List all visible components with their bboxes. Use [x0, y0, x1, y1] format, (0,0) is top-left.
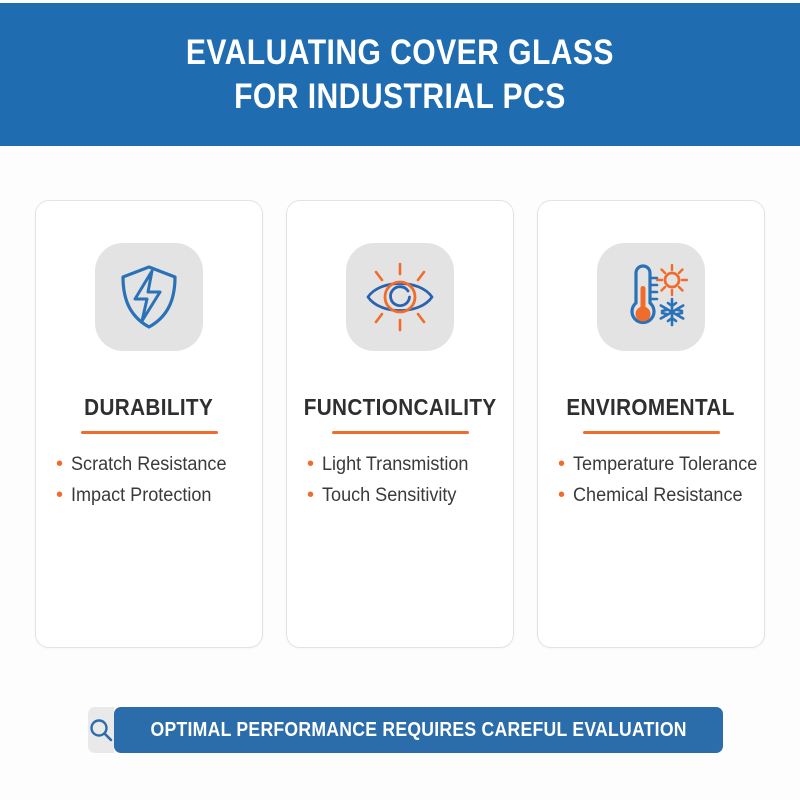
list-item: • Touch Sensitivity — [307, 485, 513, 507]
icon-tile-enviromental — [597, 243, 705, 351]
page-title-line-2: FOR INDUSTRIAL PCS — [234, 77, 566, 116]
eye-vision-icon — [360, 261, 440, 333]
bullet-dot-icon: • — [307, 454, 314, 474]
bullet-label: Chemical Resistance — [573, 485, 743, 507]
bullet-label: Temperature Tolerance — [573, 454, 757, 476]
bullet-dot-icon: • — [56, 454, 63, 474]
card-enviromental[interactable]: ENVIROMENTAL • Temperature Tolerance • C… — [537, 200, 765, 648]
icon-tile-functioncaility — [346, 243, 454, 351]
cards-container: DURABILITY • Scratch Resistance • Impact… — [35, 200, 765, 650]
card-functioncaility[interactable]: FUNCTIONCAILITY • Light Transmistion • T… — [286, 200, 514, 648]
bullet-label: Touch Sensitivity — [322, 485, 456, 507]
card-title-enviromental: ENVIROMENTAL — [567, 394, 735, 421]
magnifier-icon — [88, 717, 114, 743]
bullet-label: Scratch Resistance — [71, 454, 227, 476]
bullet-dot-icon: • — [558, 485, 565, 505]
card-title-functioncaility: FUNCTIONCAILITY — [304, 394, 497, 421]
search-button[interactable] — [88, 707, 114, 753]
bullet-list-functioncaility: • Light Transmistion • Touch Sensitivity — [287, 454, 513, 516]
bullet-dot-icon: • — [56, 485, 63, 505]
bullet-label: Impact Protection — [71, 485, 211, 507]
bullet-list-durability: • Scratch Resistance • Impact Protection — [36, 454, 262, 516]
header-banner: EVALUATING COVER GLASSFOR INDUSTRIAL PCS — [0, 3, 800, 146]
list-item: • Chemical Resistance — [558, 485, 764, 507]
footer-callout: OPTIMAL PERFORMANCE REQUIRES CAREFUL EVA… — [88, 707, 712, 753]
footer-banner: OPTIMAL PERFORMANCE REQUIRES CAREFUL EVA… — [114, 707, 723, 753]
thermometer-sun-snowflake-icon — [611, 261, 691, 333]
card-title-durability: DURABILITY — [85, 394, 214, 421]
title-underline-durability — [81, 431, 218, 434]
card-durability[interactable]: DURABILITY • Scratch Resistance • Impact… — [35, 200, 263, 648]
shield-bolt-icon — [113, 261, 185, 333]
bullet-dot-icon: • — [558, 454, 565, 474]
page-title-line-1: EVALUATING COVER GLASS — [186, 33, 614, 72]
footer-text: OPTIMAL PERFORMANCE REQUIRES CAREFUL EVA… — [151, 719, 687, 742]
icon-tile-durability — [95, 243, 203, 351]
list-item: • Impact Protection — [56, 485, 262, 507]
list-item: • Temperature Tolerance — [558, 454, 764, 476]
list-item: • Light Transmistion — [307, 454, 513, 476]
bullet-dot-icon: • — [307, 485, 314, 505]
title-underline-functioncaility — [332, 431, 469, 434]
list-item: • Scratch Resistance — [56, 454, 262, 476]
page-title: EVALUATING COVER GLASSFOR INDUSTRIAL PCS — [186, 31, 614, 119]
title-underline-enviromental — [583, 431, 720, 434]
bullet-list-enviromental: • Temperature Tolerance • Chemical Resis… — [538, 454, 764, 516]
bullet-label: Light Transmistion — [322, 454, 468, 476]
